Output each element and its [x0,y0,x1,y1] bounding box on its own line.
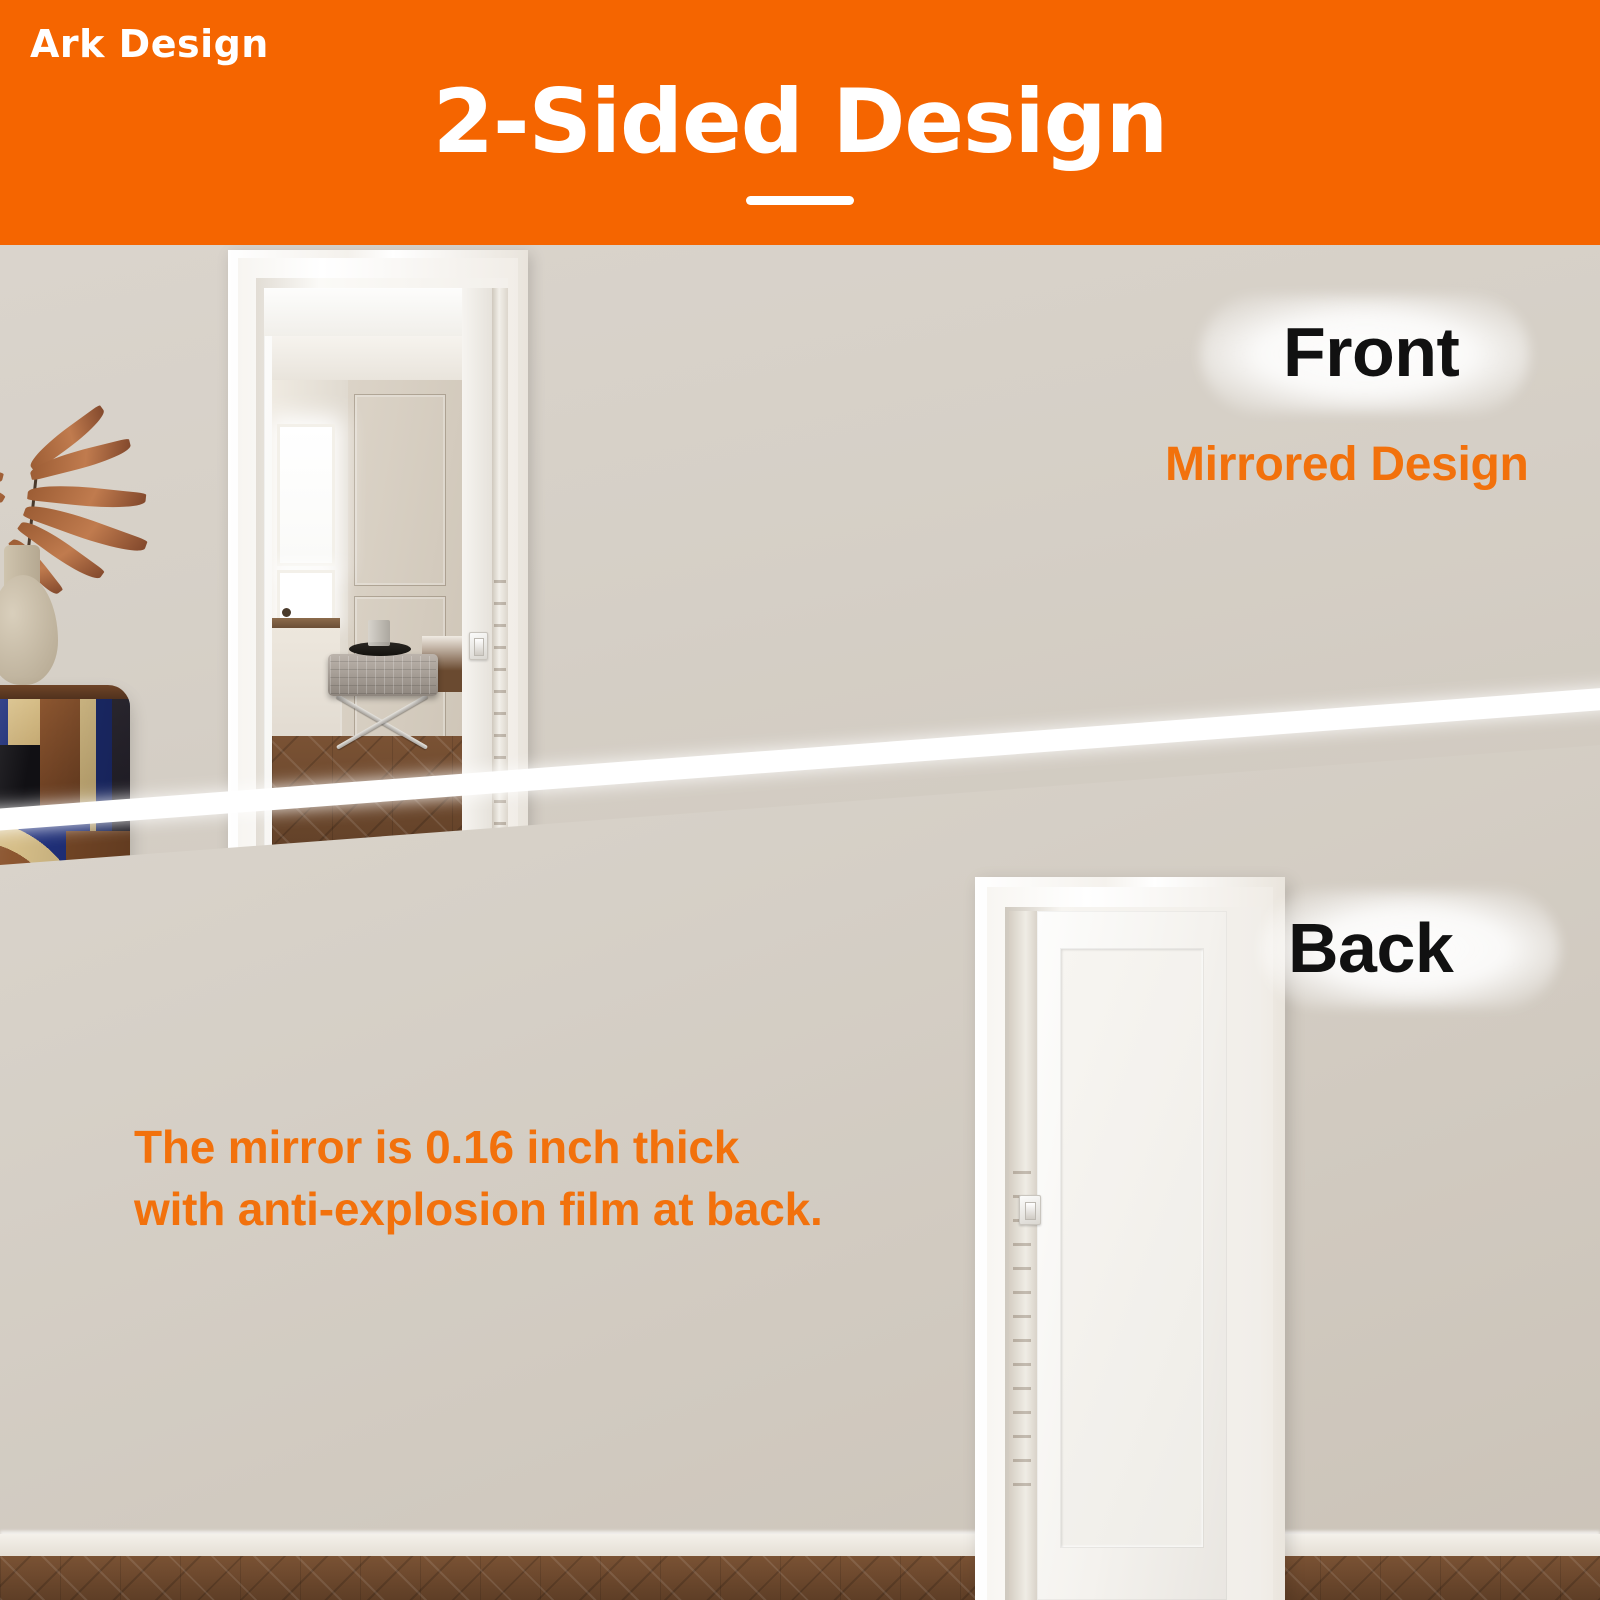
reflection-bench [328,654,438,696]
back-door-recessed-panel [1061,949,1203,1547]
front-light-switch-plate[interactable] [469,632,488,660]
brand-logo: Ark Design [30,22,269,66]
reflection-window-sill [272,618,340,628]
front-sublabel: Mirrored Design [1165,441,1529,489]
reflection-window-upper [277,424,335,566]
ceramic-vase [0,575,58,685]
front-door-top-rail [264,288,492,336]
back-door-open-gap [1009,911,1037,1600]
front-label: Front [1283,317,1459,387]
page-title: 2-Sided Design [0,78,1600,166]
mirror-thickness-note-line1: The mirror is 0.16 inch thick [134,1117,739,1178]
mirror-thickness-note-line2: with anti-explosion film at back. [134,1179,823,1240]
header-banner: Ark Design 2-Sided Design [0,0,1600,245]
back-label: Back [1288,913,1453,983]
title-underline-rule [746,196,854,205]
back-door-slab [1037,911,1227,1600]
reflection-candle-holder [368,620,390,646]
front-mirrored-door [228,250,528,930]
bottom-herringbone-floor [0,1556,1600,1600]
scene-container: Front Mirrored Design Back The mirror is… [0,245,1600,1600]
back-plain-door [975,877,1285,1600]
reflection-decor-knob [282,608,291,617]
back-light-switch-plate[interactable] [1019,1195,1041,1225]
product-feature-image: Ark Design 2-Sided Design [0,0,1600,1600]
